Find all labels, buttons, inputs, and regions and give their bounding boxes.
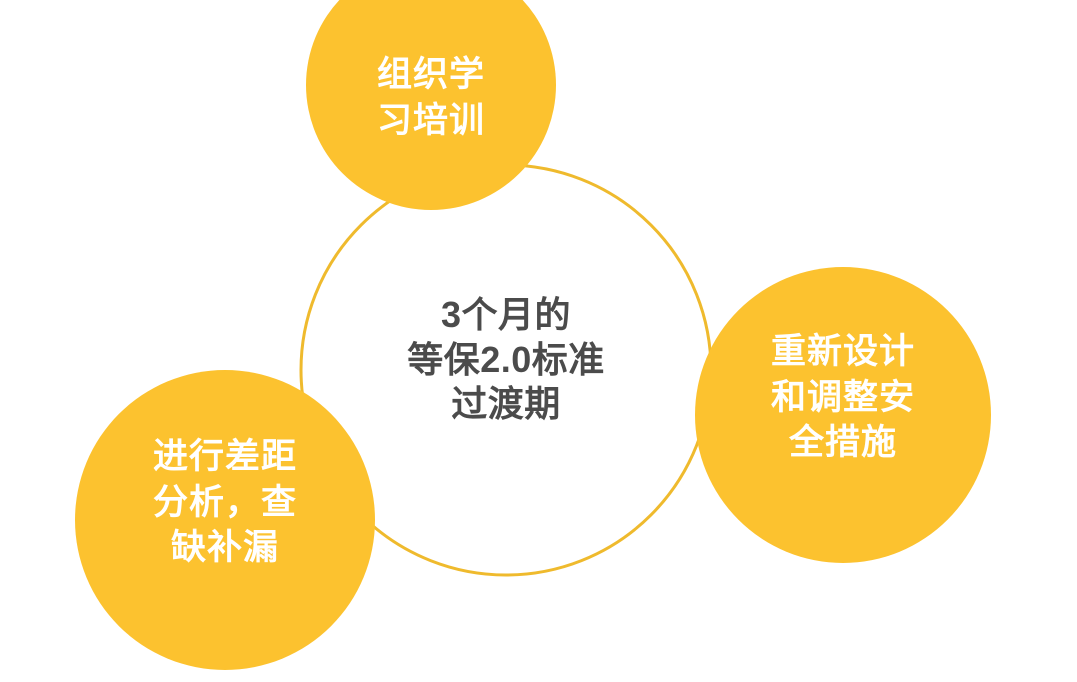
- diagram-canvas: 组织学 习培训 进行差距 分析，查 缺补漏 重新设计 和调整安 全措施 3个月的…: [0, 0, 1077, 682]
- bubble-redesign-circle[interactable]: [695, 267, 991, 563]
- bubble-gap-analysis-circle[interactable]: [75, 370, 375, 670]
- bubble-training-circle[interactable]: [306, 0, 556, 210]
- diagram-shapes: [0, 0, 1077, 682]
